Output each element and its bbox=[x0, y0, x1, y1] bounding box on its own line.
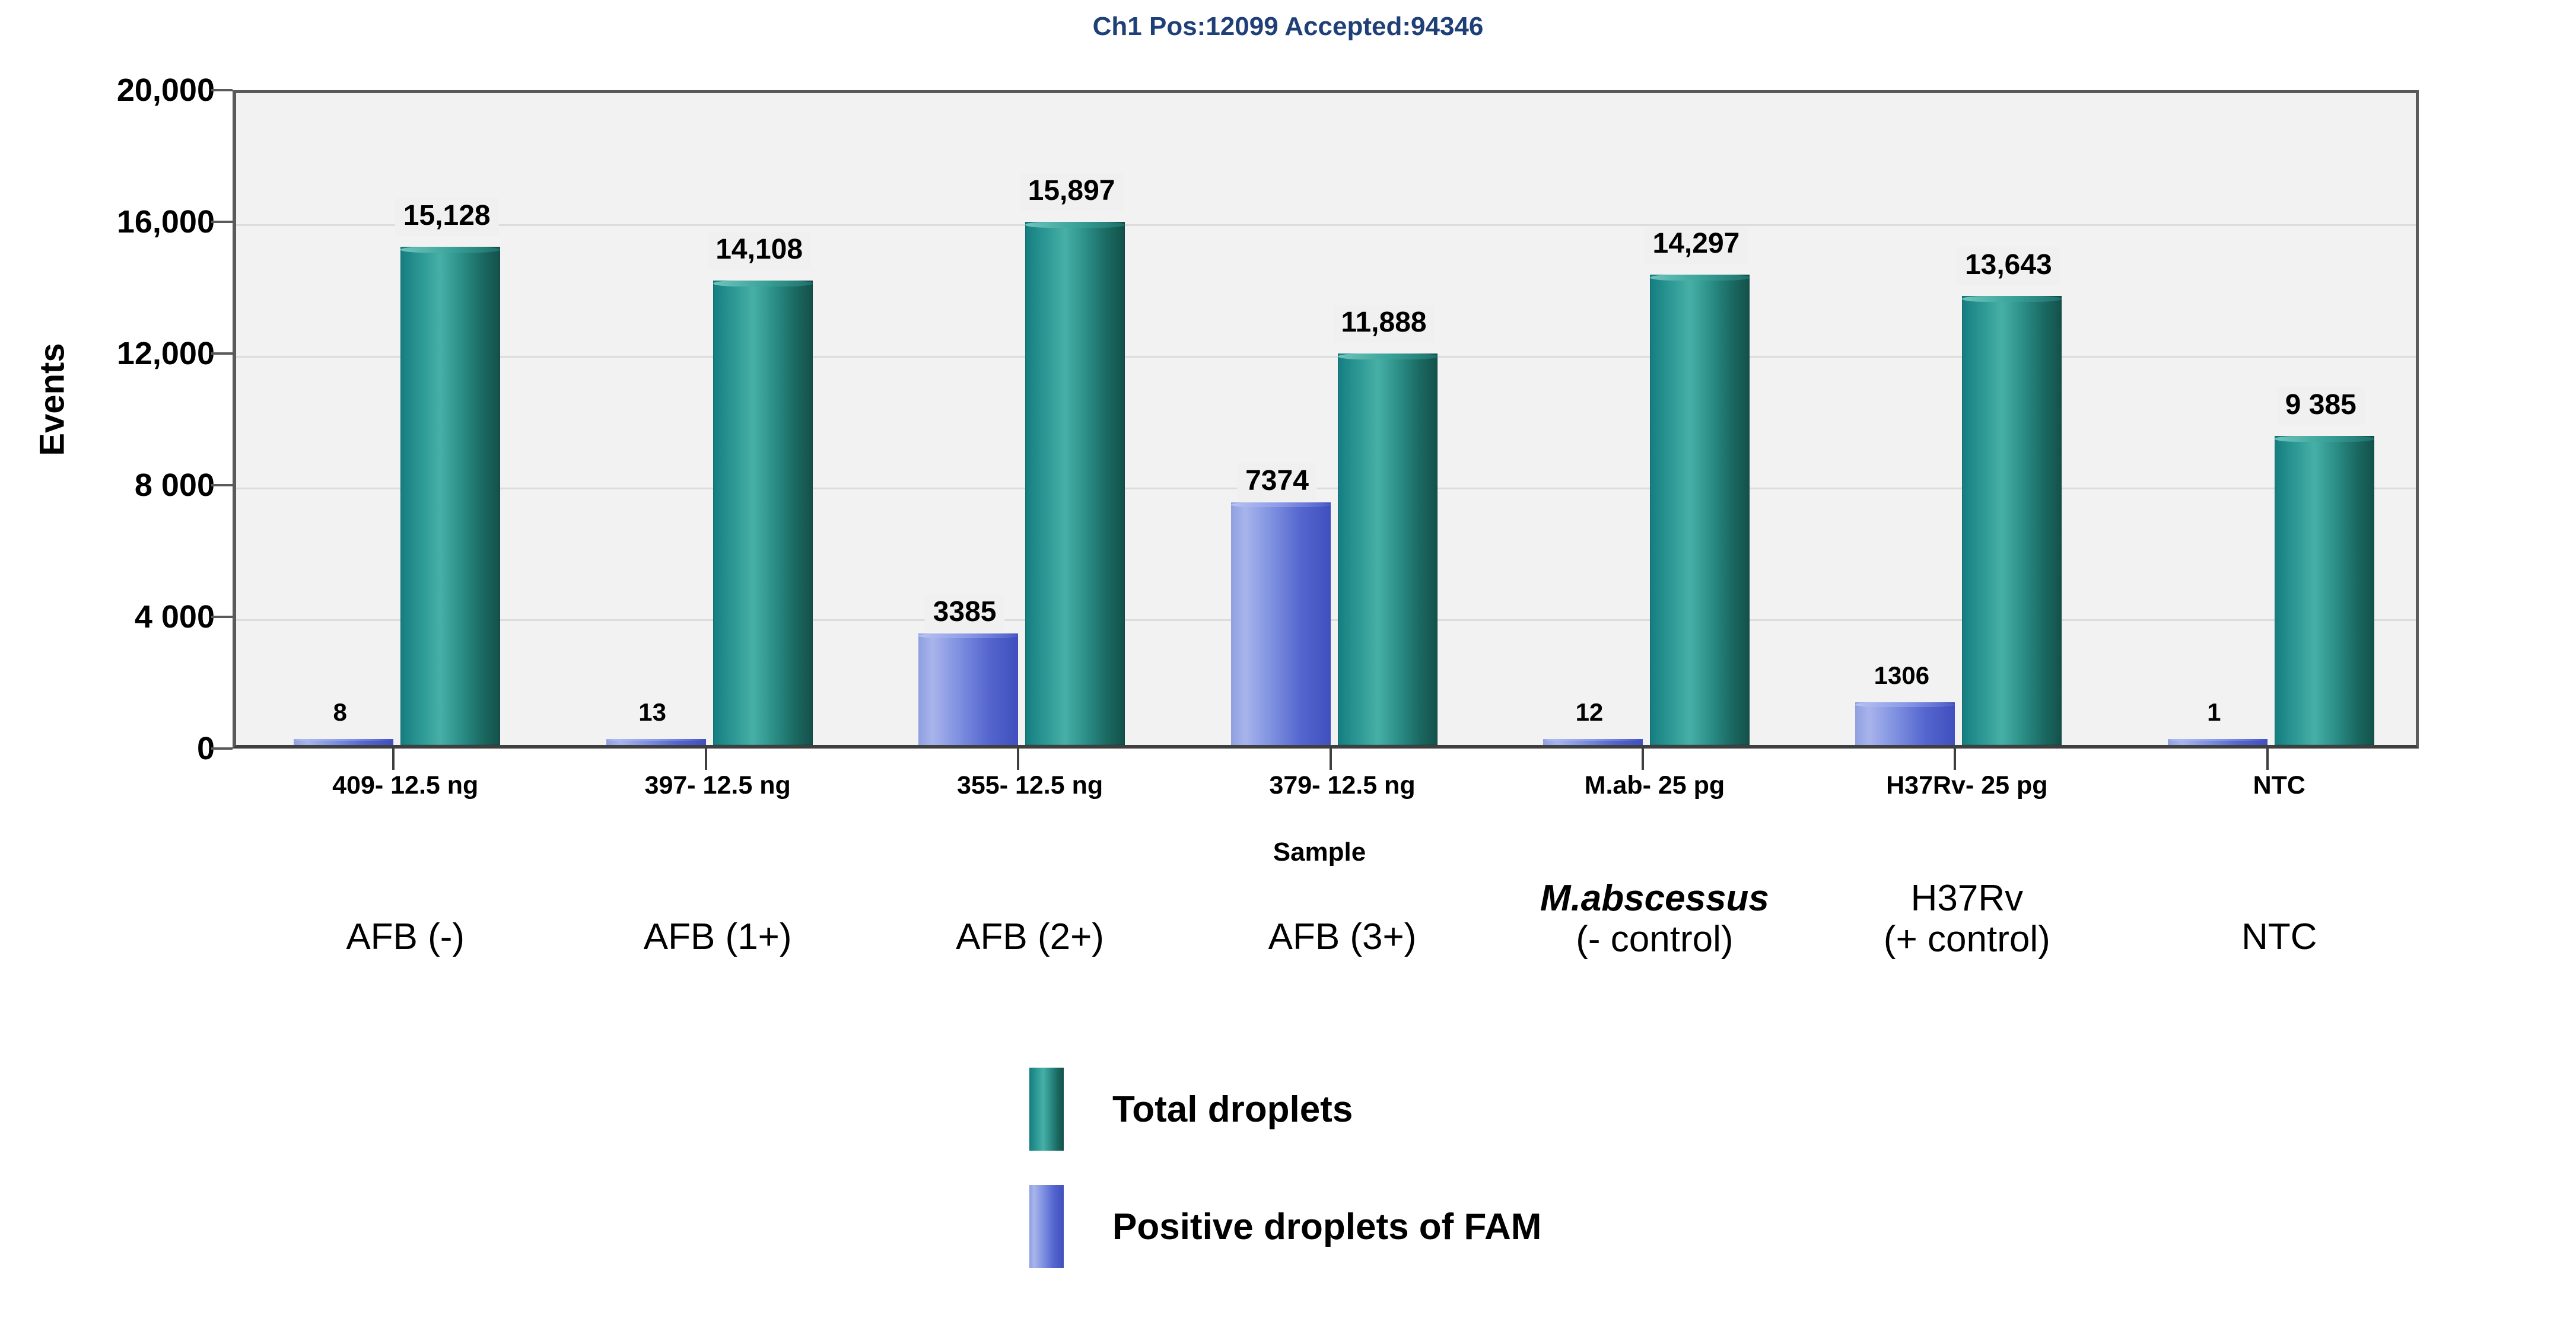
bar-value-label: 1 bbox=[2207, 700, 2221, 725]
category-label-line1: AFB (-) bbox=[346, 916, 465, 957]
gridline bbox=[236, 488, 2416, 489]
legend-label: Positive droplets of FAM bbox=[1112, 1206, 1541, 1248]
x-axis-tick-mark bbox=[1954, 749, 1956, 770]
chart-legend: Total dropletsPositive droplets of FAM bbox=[1029, 1065, 1541, 1300]
bar-value-label: 3385 bbox=[925, 594, 1005, 632]
bar-value-label: 14,297 bbox=[1645, 226, 1748, 264]
category-label-line1: AFB (2+) bbox=[956, 916, 1104, 957]
category-label-line1: AFB (1+) bbox=[644, 916, 792, 957]
bar-positive-droplets bbox=[1855, 702, 1955, 745]
bar-value-label: 8 bbox=[333, 700, 347, 725]
bar-value-label: 9 385 bbox=[2277, 387, 2365, 425]
bar-total-droplets bbox=[1025, 222, 1125, 745]
bar-value-label: 14,108 bbox=[707, 232, 811, 270]
x-axis-tick-mark bbox=[705, 749, 707, 770]
plot-area bbox=[233, 90, 2419, 749]
x-axis-tick-label: 355- 12.5 ng bbox=[957, 771, 1103, 800]
category-label: AFB (1+) bbox=[644, 916, 792, 957]
bar-value-label: 13,643 bbox=[1957, 247, 2060, 285]
gridline bbox=[236, 224, 2416, 226]
category-label: NTC bbox=[2241, 916, 2317, 957]
x-axis-tick-mark bbox=[1330, 749, 1332, 770]
x-axis-tick-mark bbox=[1017, 749, 1019, 770]
y-axis-tick-mark bbox=[211, 352, 233, 355]
gridline bbox=[236, 356, 2416, 358]
y-axis-tick-labels: 04 0008 00012,00016,00020,000 bbox=[0, 0, 225, 1331]
bar-value-label: 12 bbox=[1576, 700, 1604, 725]
bar-value-label: 15,897 bbox=[1020, 173, 1124, 211]
x-axis-tick-mark bbox=[392, 749, 395, 770]
category-label-line2: (+ control) bbox=[1884, 919, 2050, 960]
x-axis-tick-label: M.ab- 25 pg bbox=[1585, 771, 1725, 800]
y-axis-tick-mark bbox=[211, 747, 233, 750]
category-label-line1: H37Rv bbox=[1884, 878, 2050, 919]
bar-total-droplets bbox=[713, 281, 813, 745]
category-label-line1: NTC bbox=[2241, 916, 2317, 957]
bar-value-label: 11,888 bbox=[1332, 305, 1435, 343]
category-label: M.abscessus(- control) bbox=[1540, 878, 1769, 960]
bar-total-droplets bbox=[1338, 354, 1438, 745]
x-axis-tick-label: H37Rv- 25 pg bbox=[1886, 771, 2047, 800]
bar-total-droplets bbox=[2275, 436, 2374, 745]
bar-total-droplets bbox=[1650, 275, 1750, 745]
category-label: H37Rv(+ control) bbox=[1884, 878, 2050, 960]
x-axis-tick-label: 379- 12.5 ng bbox=[1269, 771, 1415, 800]
y-axis-tick-label: 0 bbox=[24, 730, 225, 767]
y-axis-tick-label: 4 000 bbox=[24, 598, 225, 635]
category-label: AFB (3+) bbox=[1268, 916, 1417, 957]
legend-item[interactable]: Total droplets bbox=[1029, 1065, 1541, 1154]
bar-total-droplets bbox=[400, 247, 500, 745]
y-axis-tick-label: 12,000 bbox=[24, 335, 225, 372]
y-axis-tick-mark bbox=[211, 221, 233, 223]
category-label-line1: M.abscessus bbox=[1540, 878, 1769, 919]
y-axis-tick-mark bbox=[211, 616, 233, 618]
category-label-line2: (- control) bbox=[1540, 919, 1769, 960]
chart-title: Ch1 Pos:12099 Accepted:94346 bbox=[0, 12, 2576, 42]
y-axis-tick-label: 8 000 bbox=[24, 467, 225, 504]
legend-swatch-total-droplets bbox=[1029, 1068, 1064, 1151]
x-axis-tick-label: NTC bbox=[2253, 771, 2305, 800]
bar-value-label: 7374 bbox=[1237, 463, 1317, 501]
x-axis-title: Sample bbox=[1273, 838, 1366, 867]
y-axis-tick-mark bbox=[211, 484, 233, 486]
y-axis-tick-label: 16,000 bbox=[24, 203, 225, 240]
legend-swatch-positive-droplets bbox=[1029, 1185, 1064, 1268]
x-axis-tick-mark bbox=[1642, 749, 1644, 770]
bar-positive-droplets bbox=[1231, 502, 1331, 745]
bar-positive-droplets bbox=[606, 739, 706, 745]
bar-positive-droplets bbox=[1543, 739, 1643, 745]
category-label: AFB (2+) bbox=[956, 916, 1104, 957]
category-label: AFB (-) bbox=[346, 916, 465, 957]
x-axis-tick-label: 409- 12.5 ng bbox=[332, 771, 478, 800]
bar-value-label: 1306 bbox=[1874, 663, 1929, 688]
bar-value-label: 13 bbox=[638, 700, 666, 725]
x-axis-tick-mark bbox=[2266, 749, 2269, 770]
bar-positive-droplets bbox=[294, 739, 393, 745]
legend-item[interactable]: Positive droplets of FAM bbox=[1029, 1182, 1541, 1271]
category-label-line1: AFB (3+) bbox=[1268, 916, 1417, 957]
x-axis-tick-label: 397- 12.5 ng bbox=[645, 771, 791, 800]
bar-value-label: 15,128 bbox=[395, 198, 499, 236]
bar-positive-droplets bbox=[918, 633, 1018, 745]
y-axis-tick-mark bbox=[211, 89, 233, 91]
bar-total-droplets bbox=[1962, 296, 2062, 745]
legend-label: Total droplets bbox=[1112, 1088, 1353, 1131]
y-axis-tick-label: 20,000 bbox=[24, 72, 225, 109]
bar-positive-droplets bbox=[2168, 739, 2267, 745]
